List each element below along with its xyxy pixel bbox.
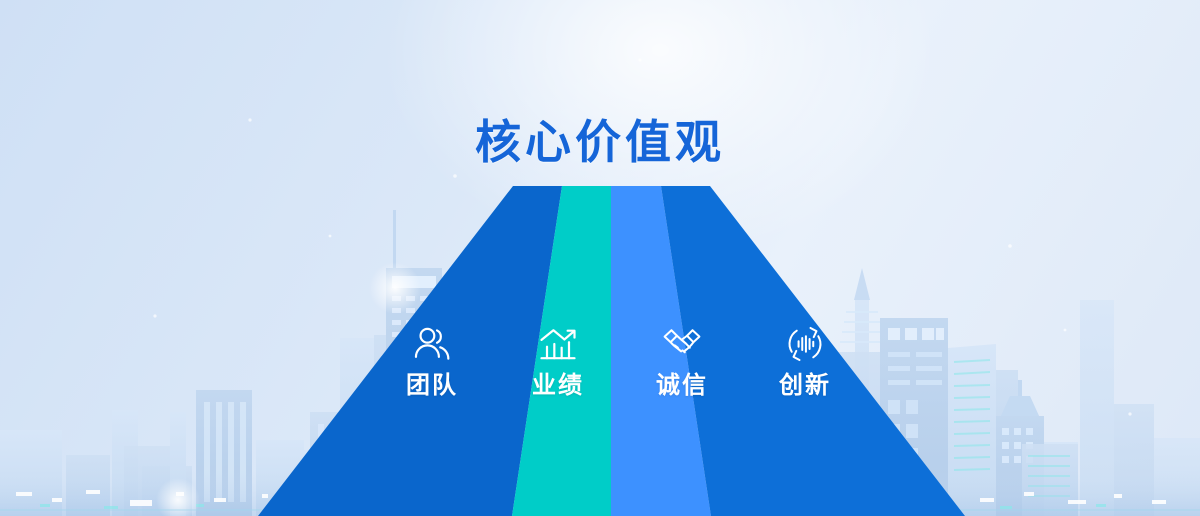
growth-bar-chart-icon xyxy=(536,322,580,366)
value-item-team[interactable]: 团队 xyxy=(372,322,492,398)
handshake-icon xyxy=(660,322,704,366)
value-item-innovation[interactable]: 创新 xyxy=(745,322,865,398)
core-values-banner: 核心价值观 团队 业绩 xyxy=(0,0,1200,516)
value-label-innovation: 创新 xyxy=(745,374,865,398)
value-item-integrity[interactable]: 诚信 xyxy=(622,322,742,398)
core-values-pyramid xyxy=(0,0,1200,516)
value-item-performance[interactable]: 业绩 xyxy=(498,322,618,398)
value-label-performance: 业绩 xyxy=(498,374,618,398)
value-label-integrity: 诚信 xyxy=(622,374,742,398)
value-label-team: 团队 xyxy=(372,374,492,398)
innovation-refresh-icon xyxy=(783,322,827,366)
team-people-icon xyxy=(410,322,454,366)
